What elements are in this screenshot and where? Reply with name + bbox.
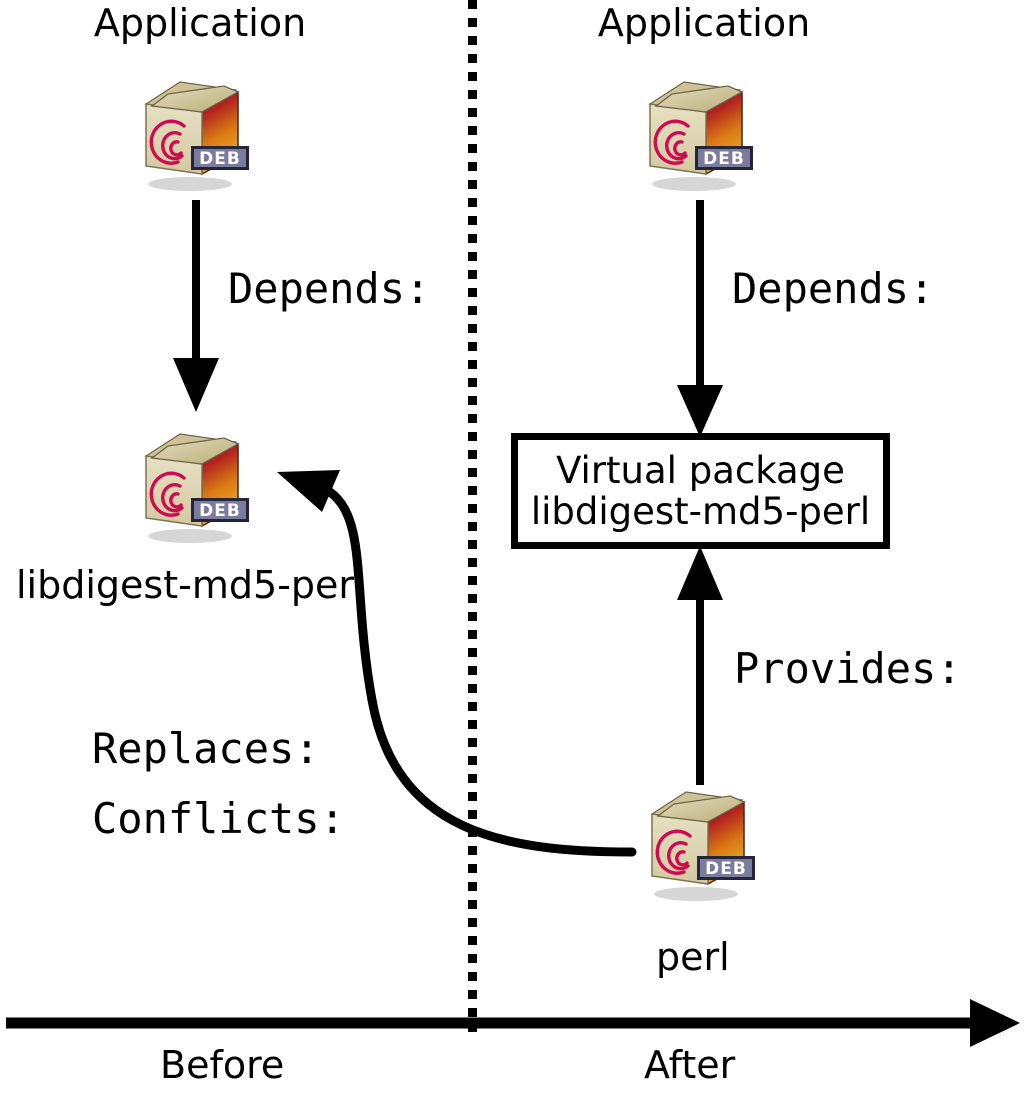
svg-text:DEB: DEB bbox=[199, 501, 241, 521]
before-depends-arrow bbox=[173, 200, 219, 412]
after-application-title: Application bbox=[554, 4, 854, 42]
before-depends-label: Depends: bbox=[228, 268, 430, 310]
before-application-package-icon[interactable]: DEB bbox=[128, 68, 258, 198]
svg-text:DEB: DEB bbox=[703, 149, 745, 169]
virtual-package-box[interactable]: Virtual package libdigest-md5-perl bbox=[511, 433, 890, 549]
after-perl-package-icon[interactable]: DEB bbox=[634, 778, 764, 908]
provides-label: Provides: bbox=[734, 648, 962, 690]
after-perl-package-label: perl bbox=[656, 938, 730, 976]
after-application-package-icon[interactable]: DEB bbox=[632, 68, 762, 198]
timeline-after-label: After bbox=[644, 1046, 735, 1084]
conflicts-label: Conflicts: bbox=[92, 798, 345, 840]
svg-text:DEB: DEB bbox=[199, 149, 241, 169]
provides-arrow bbox=[677, 546, 723, 785]
deb-badge: DEB bbox=[191, 146, 249, 170]
timeline-before-label: Before bbox=[160, 1046, 284, 1084]
diagram-canvas: Application bbox=[0, 0, 1024, 1094]
time-axis-arrow bbox=[6, 999, 1020, 1047]
virtual-package-line-2: libdigest-md5-perl bbox=[531, 491, 870, 532]
deb-badge: DEB bbox=[697, 856, 755, 880]
after-depends-arrow bbox=[677, 200, 723, 437]
before-libdigest-package-icon[interactable]: DEB bbox=[128, 420, 258, 550]
before-after-divider bbox=[468, 0, 477, 1032]
replaces-label: Replaces: bbox=[92, 728, 320, 770]
deb-badge: DEB bbox=[695, 146, 753, 170]
before-libdigest-package-label: libdigest-md5-perl bbox=[16, 566, 365, 604]
virtual-package-line-1: Virtual package bbox=[556, 450, 845, 491]
before-application-title: Application bbox=[50, 4, 350, 42]
deb-badge: DEB bbox=[191, 498, 249, 522]
svg-text:DEB: DEB bbox=[705, 859, 747, 879]
after-depends-label: Depends: bbox=[732, 268, 934, 310]
